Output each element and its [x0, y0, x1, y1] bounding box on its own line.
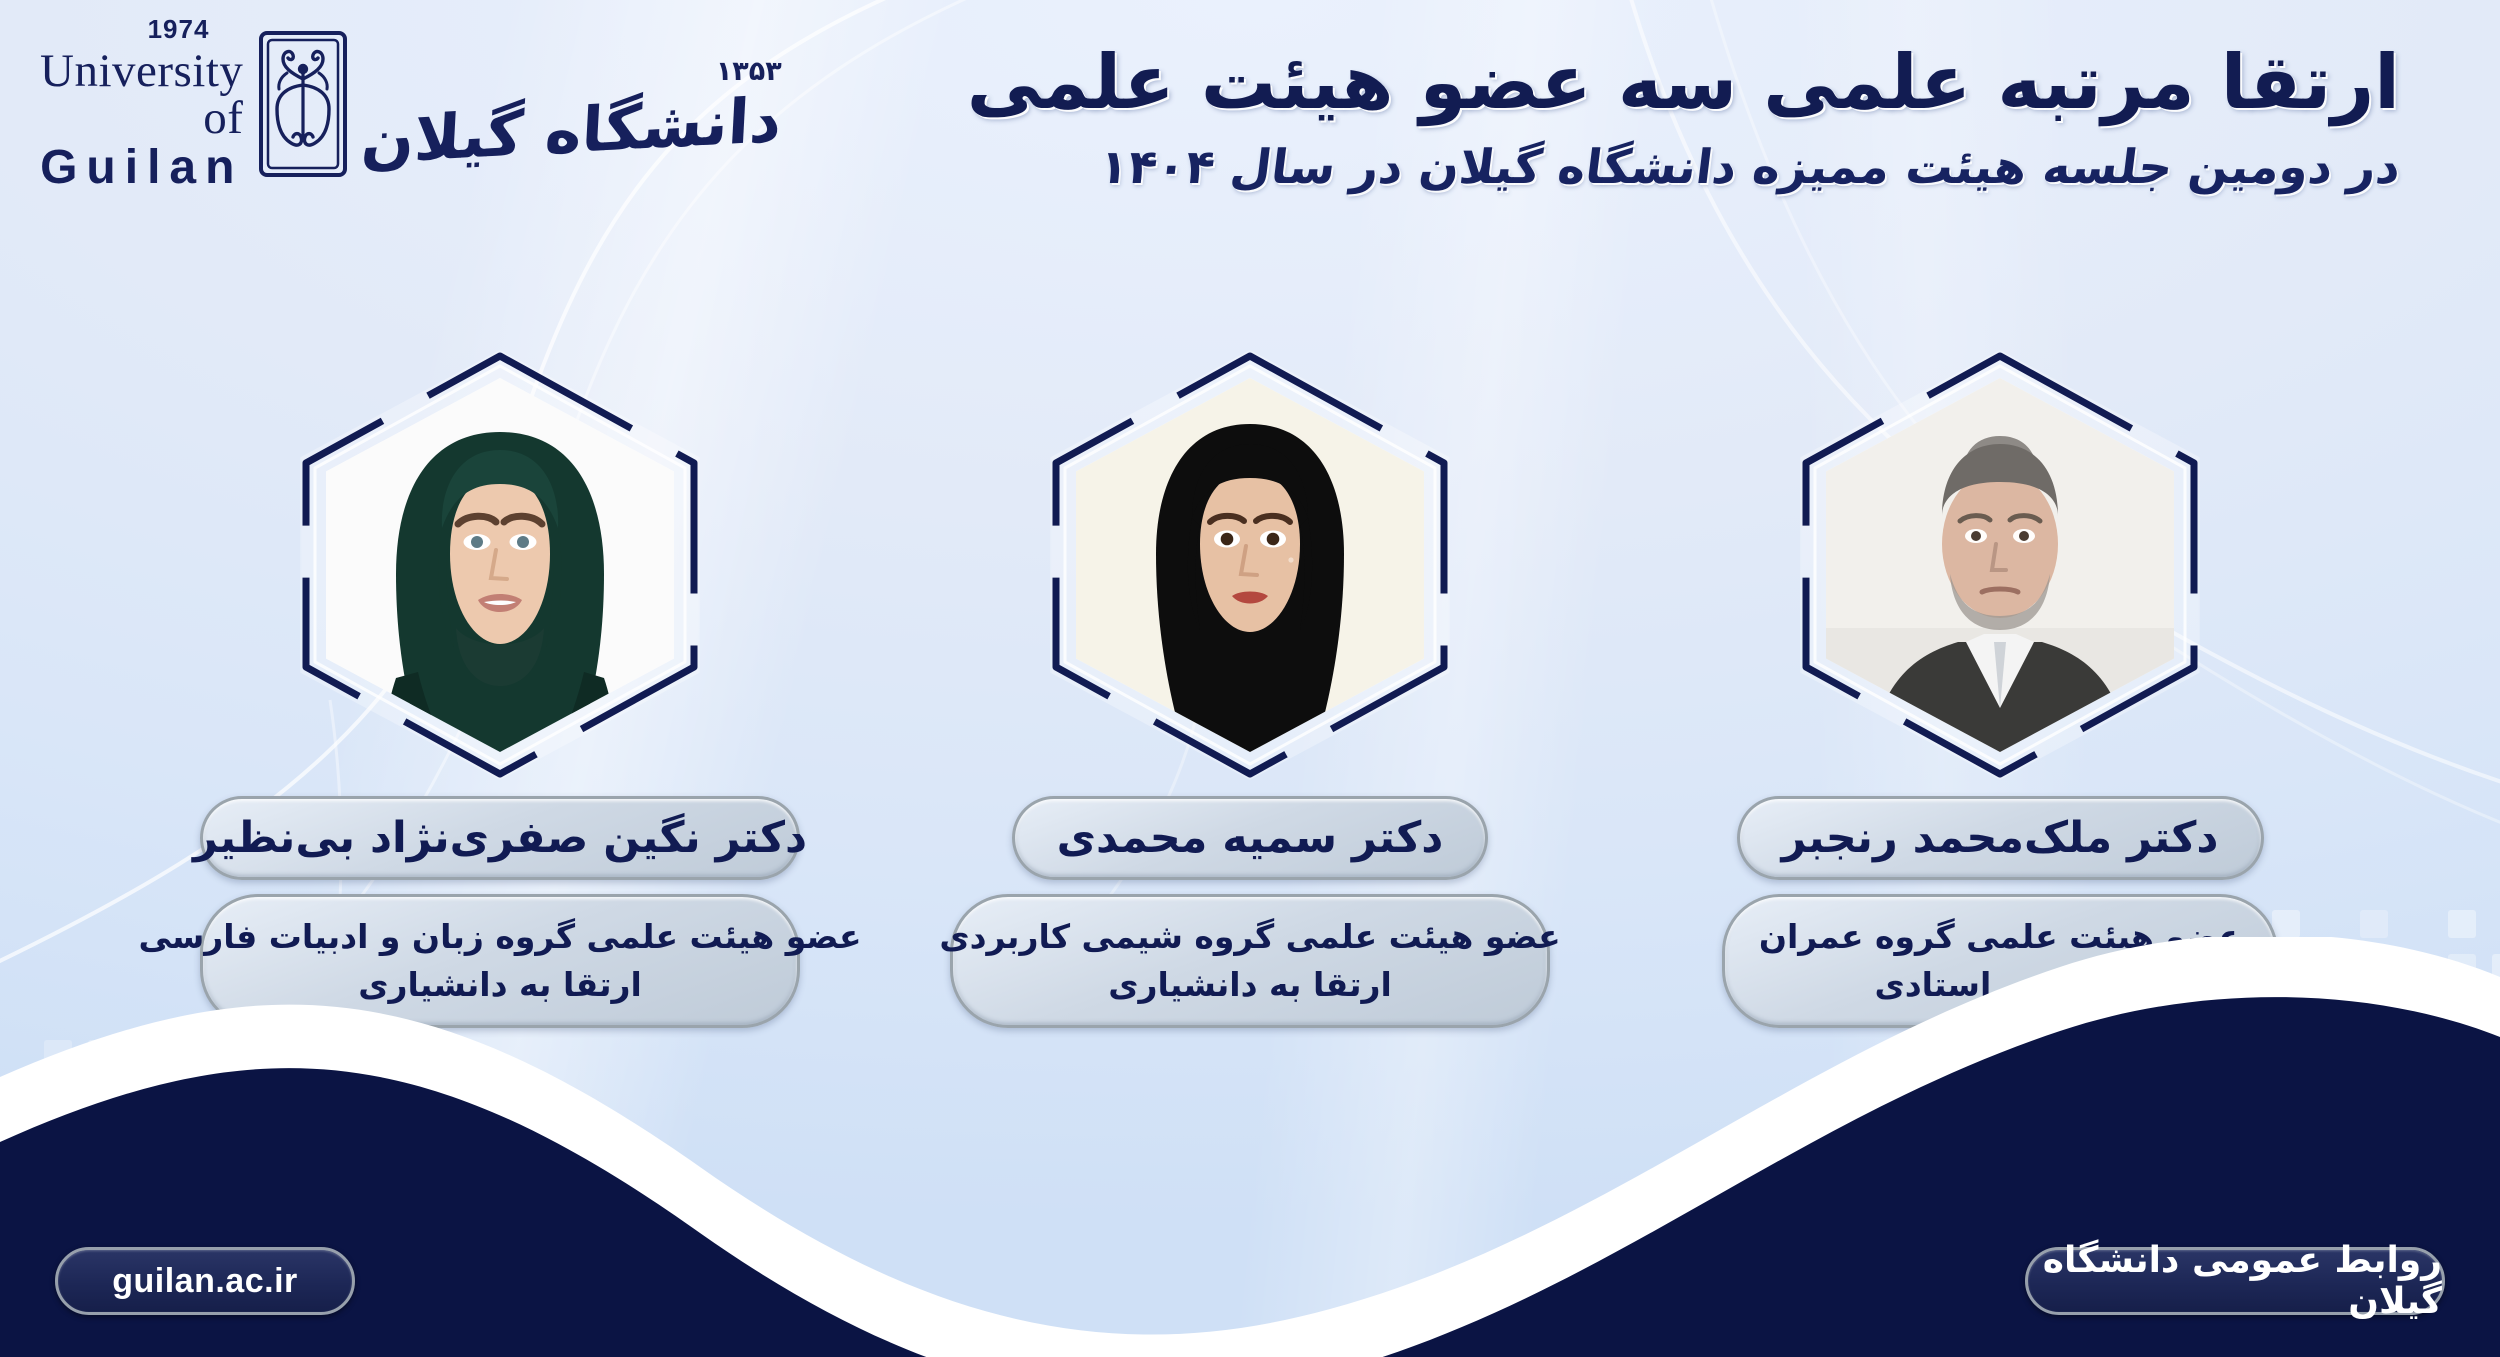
portrait-hex-outline	[300, 350, 700, 780]
website-pill[interactable]: guilan.ac.ir	[55, 1247, 355, 1315]
person-name: دکتر ملک‌محمد رنجبر	[1737, 796, 2264, 880]
portrait-frame	[1050, 350, 1450, 780]
butterfly-emblem-icon	[257, 29, 349, 179]
page-title: ارتقا مرتبه علمی سه عضو هیئت علمی	[967, 38, 2400, 126]
person-card: دکتر نگین صفری‌نژاد بی‌نظیر عضو هیئت علم…	[190, 350, 810, 1028]
logo-name-fa: دانشگاه گیلان	[360, 89, 783, 173]
website-label: guilan.ac.ir	[112, 1262, 298, 1301]
page-subtitle: در دومین جلسه هیئت ممیزه دانشگاه گیلان د…	[963, 140, 2403, 195]
logo-english-text: 1974 University of Guilan	[40, 16, 243, 192]
portrait-frame	[300, 350, 700, 780]
portrait-hex-outline	[1800, 350, 2200, 780]
person-name: دکتر نگین صفری‌نژاد بی‌نظیر	[200, 796, 800, 880]
logo-line2-en: Guilan	[40, 144, 243, 192]
logo-year-en: 1974	[40, 16, 209, 42]
university-logo: 1974 University of Guilan ۱۳۵۳ دانشگاه گ…	[40, 14, 740, 194]
logo-persian-text: ۱۳۵۳ دانشگاه گیلان	[363, 58, 781, 151]
logo-line1-en: University of	[40, 48, 243, 142]
portrait-frame	[1800, 350, 2200, 780]
person-card: دکتر ملک‌محمد رنجبر عضو هیئت علمی گروه ع…	[1690, 350, 2310, 1028]
poster-canvas: 1974 University of Guilan ۱۳۵۳ دانشگاه گ…	[0, 0, 2500, 1357]
public-relations-pill[interactable]: روابط عمومی دانشگاه گیلان	[2025, 1247, 2445, 1315]
title-block: ارتقا مرتبه علمی سه عضو هیئت علمی در دوم…	[967, 38, 2400, 195]
logo-year-fa: ۱۳۵۳	[363, 58, 781, 85]
person-card: دکتر سمیه محمدی عضو هیئت علمی گروه شیمی …	[940, 350, 1560, 1028]
portrait-hex-outline	[1050, 350, 1450, 780]
header: 1974 University of Guilan ۱۳۵۳ دانشگاه گ…	[0, 0, 2500, 300]
person-name: دکتر سمیه محمدی	[1012, 796, 1489, 880]
public-relations-label: روابط عمومی دانشگاه گیلان	[2028, 1240, 2442, 1322]
